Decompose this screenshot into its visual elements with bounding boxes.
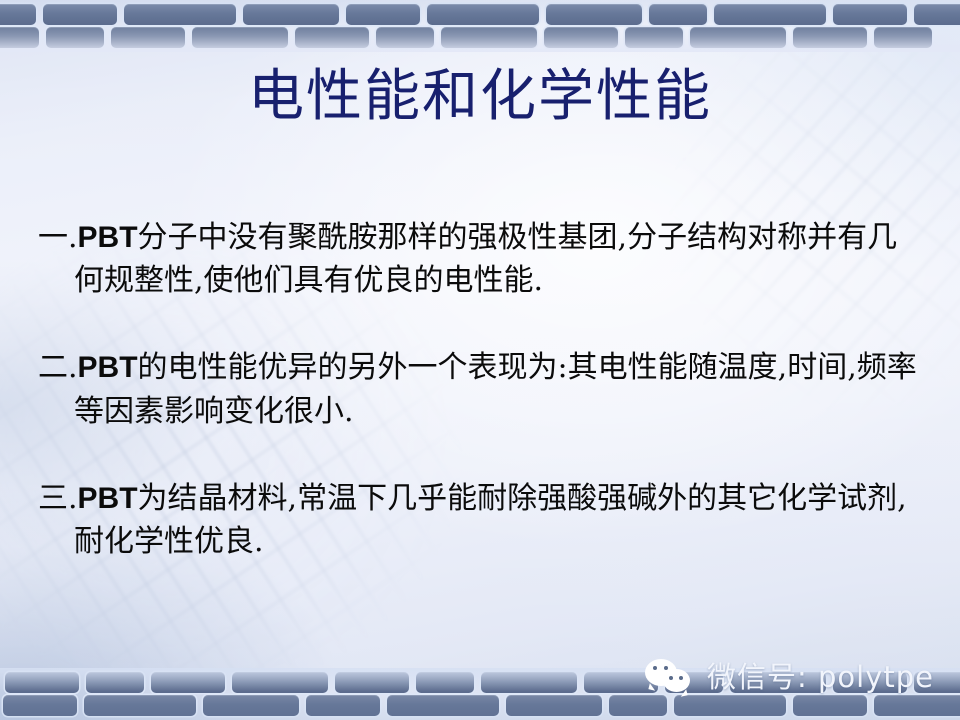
brick	[5, 672, 79, 693]
brick	[441, 27, 537, 48]
brick	[3, 695, 77, 716]
brick	[335, 672, 409, 693]
top-brick-border	[0, 0, 960, 52]
bullet-latin: PBT	[78, 351, 138, 384]
brick	[546, 4, 642, 25]
bullet-marker: 三.	[38, 481, 78, 516]
bullet-item: 三.PBT为结晶材料,常温下几乎能耐除强酸强碱外的其它化学试剂,耐化学性优良.	[38, 477, 922, 563]
wechat-eye-dot	[664, 666, 668, 670]
bullet-item: 二.PBT的电性能优异的另外一个表现为:其电性能随温度,时间,频率等因素影响变化…	[38, 346, 922, 432]
bullet-text: 的电性能优异的另外一个表现为:其电性能随温度,时间,频率等因素影响变化很小.	[74, 350, 917, 428]
wechat-eye-dot	[669, 676, 673, 680]
brick	[674, 695, 786, 716]
brick-row	[0, 695, 960, 716]
brick	[111, 27, 185, 48]
brick	[346, 4, 420, 25]
brick	[84, 695, 196, 716]
brick-row	[0, 27, 960, 48]
brick	[609, 695, 667, 716]
presentation-slide: 电性能和化学性能 一.PBT分子中没有聚酰胺那样的强极性基团,分子结构对称并有几…	[0, 0, 960, 720]
brick	[714, 4, 826, 25]
brick-row	[0, 4, 960, 25]
brick	[192, 27, 288, 48]
bullet-text: 分子中没有聚酰胺那样的强极性基团,分子结构对称并有几何规整性,使他们具有优良的电…	[74, 220, 897, 298]
brick	[46, 27, 104, 48]
brick	[833, 4, 907, 25]
bullet-marker: 一.	[38, 220, 78, 255]
brick	[625, 27, 683, 48]
brick	[544, 27, 618, 48]
bullet-latin: PBT	[78, 482, 138, 515]
wechat-logo-icon	[645, 658, 697, 696]
bullet-latin: PBT	[78, 221, 138, 254]
brick	[427, 4, 539, 25]
wechat-bubble-small	[663, 669, 690, 692]
brick	[793, 27, 867, 48]
brick	[243, 4, 339, 25]
brick	[43, 4, 117, 25]
brick	[874, 695, 960, 716]
brick	[124, 4, 236, 25]
bullet-item: 一.PBT分子中没有聚酰胺那样的强极性基团,分子结构对称并有几何规整性,使他们具…	[38, 216, 922, 302]
wechat-watermark: 微信号: polytpe	[645, 658, 934, 696]
brick	[649, 4, 707, 25]
slide-title: 电性能和化学性能	[0, 66, 960, 129]
brick	[232, 672, 328, 693]
brick	[416, 672, 474, 693]
brick	[0, 4, 36, 25]
brick	[506, 695, 602, 716]
brick	[203, 695, 299, 716]
brick	[874, 27, 932, 48]
brick	[306, 695, 380, 716]
brick	[86, 672, 144, 693]
brick	[295, 27, 369, 48]
bullet-text: 为结晶材料,常温下几乎能耐除强酸强碱外的其它化学试剂,耐化学性优良.	[74, 481, 907, 559]
slide-body: 一.PBT分子中没有聚酰胺那样的强极性基团,分子结构对称并有几何规整性,使他们具…	[38, 186, 922, 607]
bullet-marker: 二.	[38, 350, 78, 385]
brick	[376, 27, 434, 48]
brick	[690, 27, 786, 48]
brick	[481, 672, 577, 693]
wechat-id-text: 微信号: polytpe	[707, 663, 934, 692]
brick	[793, 695, 867, 716]
brick	[387, 695, 499, 716]
brick	[914, 4, 960, 25]
wechat-eye-dot	[679, 676, 683, 680]
brick	[0, 27, 39, 48]
brick	[151, 672, 225, 693]
wechat-eye-dot	[653, 666, 657, 670]
